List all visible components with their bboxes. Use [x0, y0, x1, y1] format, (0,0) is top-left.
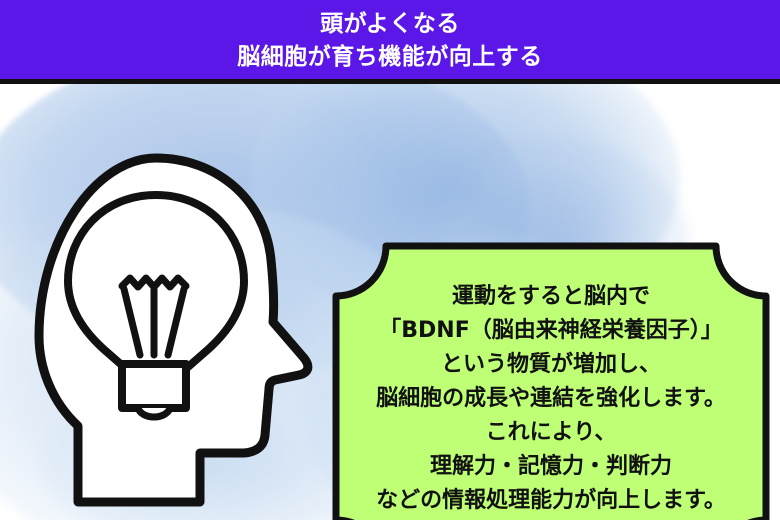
slide-canvas: 頭がよくなる 脳細胞が育ち機能が向上する: [0, 0, 780, 520]
info-callout-box: 運動をすると脳内で 「BDNF（脳由来神経栄養因子）」 という物質が増加し、 脳…: [332, 242, 770, 520]
lightbulb-base-icon: [122, 364, 186, 417]
callout-line-3: という物質が増加し、: [441, 348, 661, 382]
callout-line-1: 運動をすると脳内で: [452, 280, 650, 314]
header-title-line-1: 頭がよくなる: [320, 8, 460, 41]
callout-line-4: 脳細胞の成長や連結を強化します。: [376, 382, 726, 416]
callout-line-7: などの情報処理能力が向上します。: [376, 484, 726, 518]
callout-line-6: 理解力・記憶力・判断力: [430, 450, 672, 484]
callout-line-5: これにより、: [486, 416, 617, 450]
header-title-line-2: 脳細胞が育ち機能が向上する: [237, 41, 543, 74]
content-area: 運動をすると脳内で 「BDNF（脳由来神経栄養因子）」 という物質が増加し、 脳…: [0, 84, 780, 520]
callout-line-2: 「BDNF（脳由来神経栄養因子）」: [379, 314, 722, 348]
header-banner: 頭がよくなる 脳細胞が育ち機能が向上する: [0, 0, 780, 79]
head-lightbulb-illustration: [28, 150, 328, 520]
callout-text-block: 運動をすると脳内で 「BDNF（脳由来神経栄養因子）」 という物質が増加し、 脳…: [332, 242, 770, 520]
